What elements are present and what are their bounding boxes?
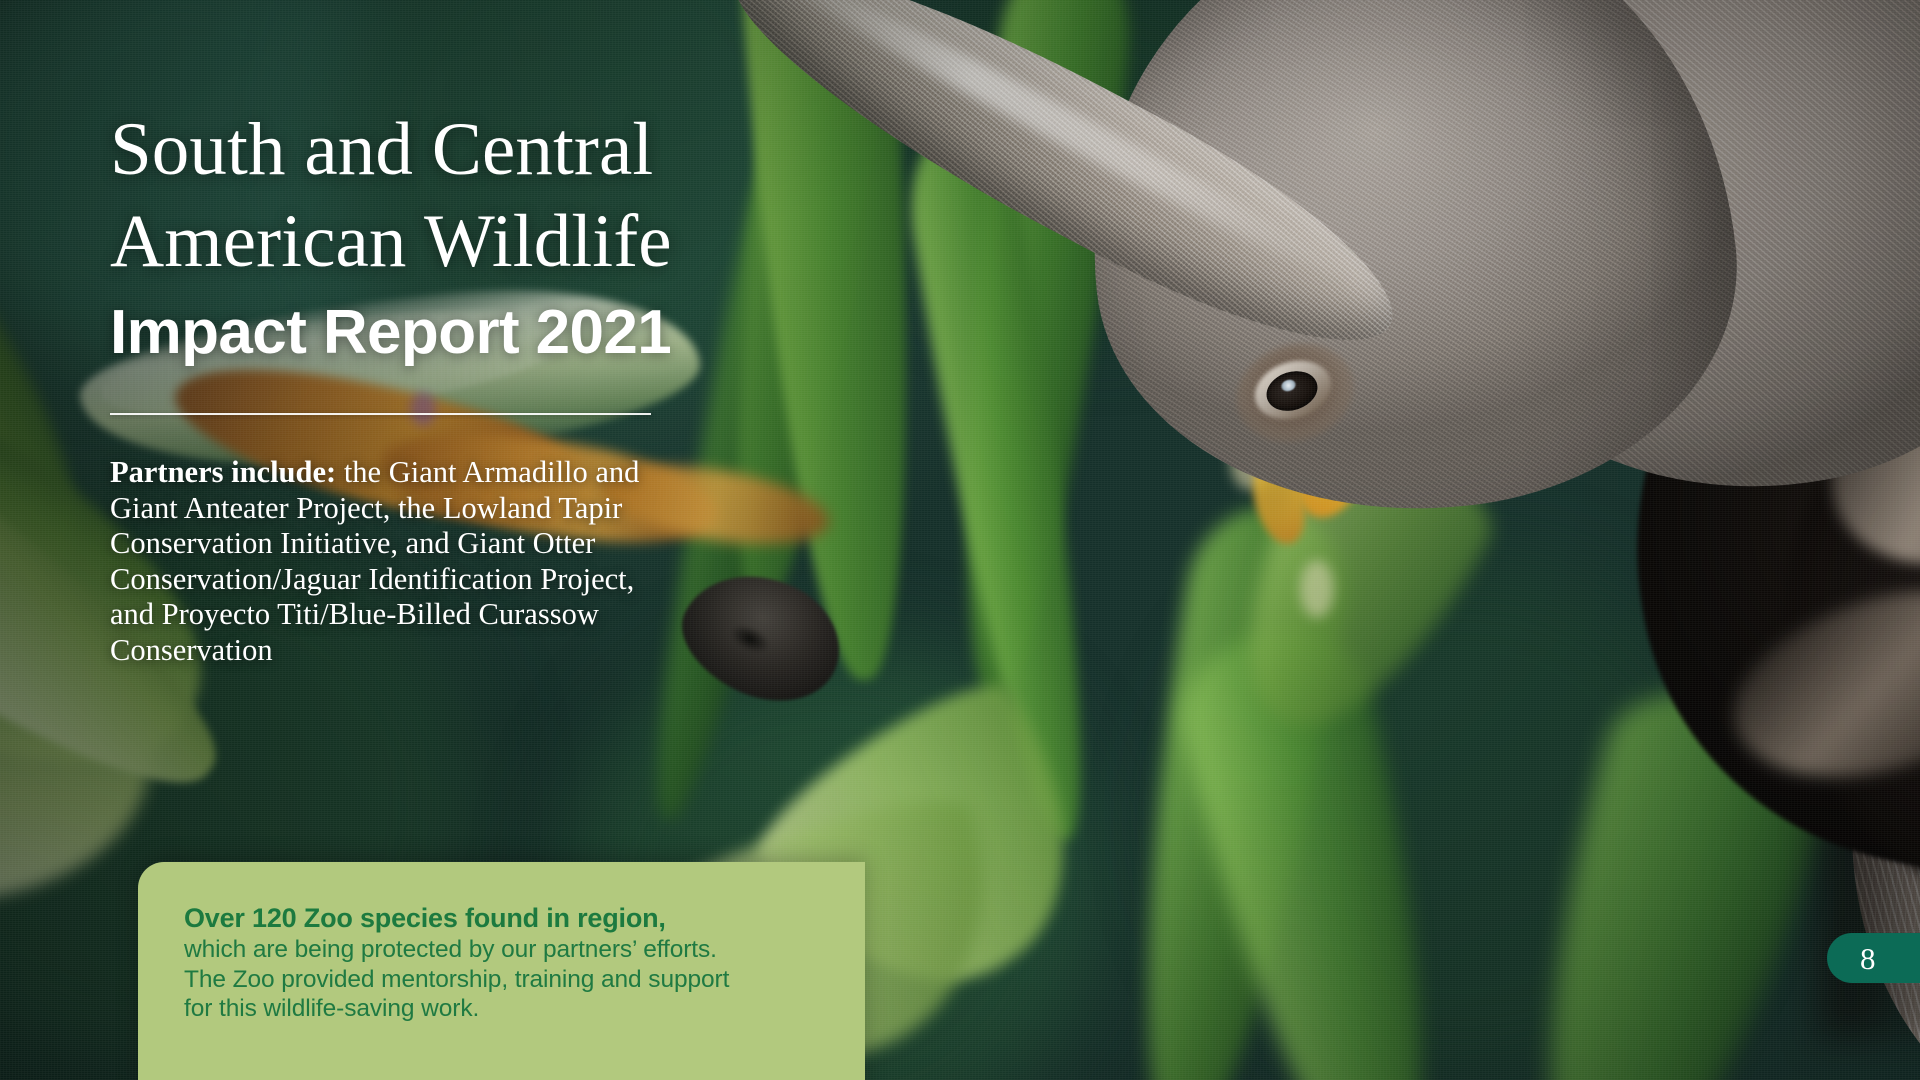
- report-page: South and Central American Wildlife Impa…: [0, 0, 1920, 1080]
- title-line-1: South and Central: [110, 104, 810, 196]
- page-number-badge: 8: [1827, 933, 1920, 983]
- page-title: South and Central American Wildlife Impa…: [110, 104, 810, 378]
- title-line-2: American Wildlife: [110, 196, 810, 288]
- page-content: South and Central American Wildlife Impa…: [0, 0, 1920, 1080]
- page-number: 8: [1860, 943, 1876, 974]
- highlight-callout: Over 120 Zoo species found in region, wh…: [138, 862, 865, 1080]
- callout-body-line: The Zoo provided mentorship, training an…: [184, 965, 825, 995]
- callout-body-line: which are being protected by our partner…: [184, 935, 825, 965]
- callout-body: which are being protected by our partner…: [184, 935, 825, 1024]
- partners-paragraph: Partners include: the Giant Armadillo an…: [110, 455, 676, 668]
- title-line-3: Impact Report 2021: [110, 288, 810, 378]
- partners-label: Partners include:: [110, 455, 336, 489]
- callout-heading: Over 120 Zoo species found in region,: [184, 903, 825, 933]
- callout-body-line: for this wildlife-saving work.: [184, 994, 825, 1024]
- title-divider: [110, 413, 651, 415]
